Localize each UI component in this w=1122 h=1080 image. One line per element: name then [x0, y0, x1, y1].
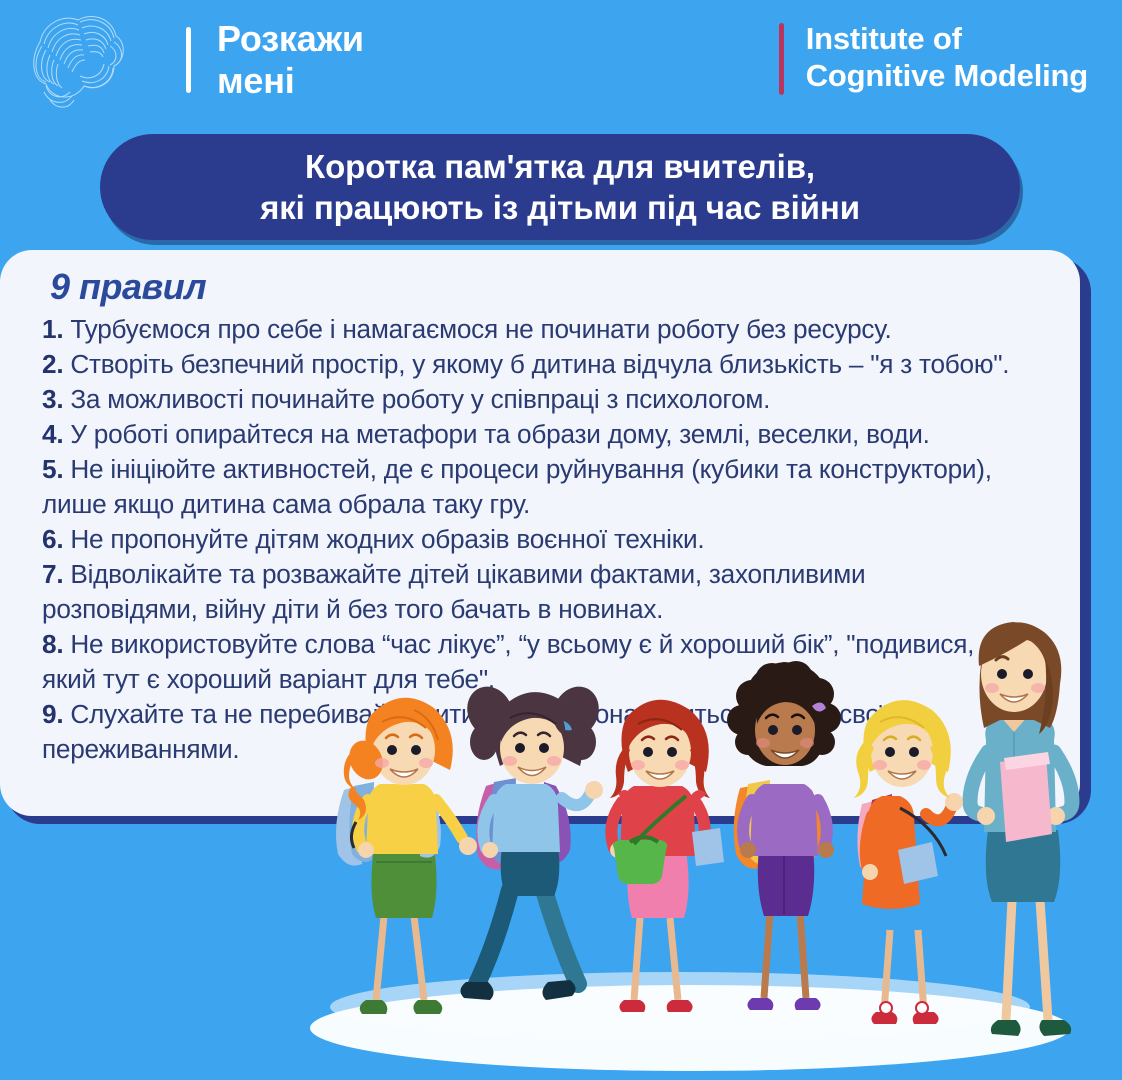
rule-text: Створіть безпечний простір, у якому б ди…	[63, 349, 1009, 379]
brain-logo-icon	[22, 8, 134, 112]
rule-text: У роботі опирайтеся на метафори та образ…	[63, 419, 929, 449]
rule-item-4: 4. У роботі опирайтеся на метафори та об…	[42, 417, 1050, 452]
rule-number: 4.	[42, 419, 63, 449]
title-banner: Коротка пам'ятка для вчителів, які працю…	[100, 134, 1020, 240]
poster-header: Розкажи мені Institute of Cognitive Mode…	[0, 0, 1122, 120]
rule-number: 7.	[42, 559, 63, 589]
rules-heading: 9 правил	[50, 266, 1050, 308]
rule-text: Турбуємося про себе і намагаємося не поч…	[63, 314, 891, 344]
rule-text: За можливості починайте роботу у співпра…	[63, 384, 770, 414]
page-title: Коротка пам'ятка для вчителів, які працю…	[260, 146, 860, 229]
rule-item-5: 5. Не ініціюйте активностей, де є процес…	[42, 452, 1050, 522]
brand-institute: Institute of Cognitive Modeling	[779, 20, 1088, 106]
girl-orange-hair	[336, 698, 477, 1014]
rule-number: 1.	[42, 314, 63, 344]
rule-item-2: 2. Створіть безпечний простір, у якому б…	[42, 347, 1050, 382]
rule-number: 3.	[42, 384, 63, 414]
girl-dark-pigtails	[459, 679, 607, 1000]
teacher-woman	[970, 622, 1072, 1036]
brand-rozkazhy-meni: Розкажи мені	[22, 8, 364, 112]
institute-name-label: Institute of Cognitive Modeling	[806, 20, 1088, 94]
girl-curly-dark-skin	[727, 661, 841, 1010]
girl-blonde-pigtails	[854, 700, 963, 1024]
rule-text: Не пропонуйте дітям жодних образів воєнн…	[63, 524, 704, 554]
children-illustration	[0, 600, 1122, 1080]
infographic-poster: Розкажи мені Institute of Cognitive Mode…	[0, 0, 1122, 1080]
brand-divider-right	[779, 23, 784, 95]
girl-red-braids	[610, 700, 724, 1012]
brand-name-label: Розкажи мені	[217, 18, 364, 103]
rule-number: 6.	[42, 524, 63, 554]
rule-text: Не ініціюйте активностей, де є процеси р…	[42, 454, 992, 519]
rule-item-1: 1. Турбуємося про себе і намагаємося не …	[42, 312, 1050, 347]
rule-number: 5.	[42, 454, 63, 484]
rule-number: 2.	[42, 349, 63, 379]
rule-item-6: 6. Не пропонуйте дітям жодних образів во…	[42, 522, 1050, 557]
rule-item-3: 3. За можливості починайте роботу у спів…	[42, 382, 1050, 417]
brand-divider-left	[186, 27, 191, 93]
